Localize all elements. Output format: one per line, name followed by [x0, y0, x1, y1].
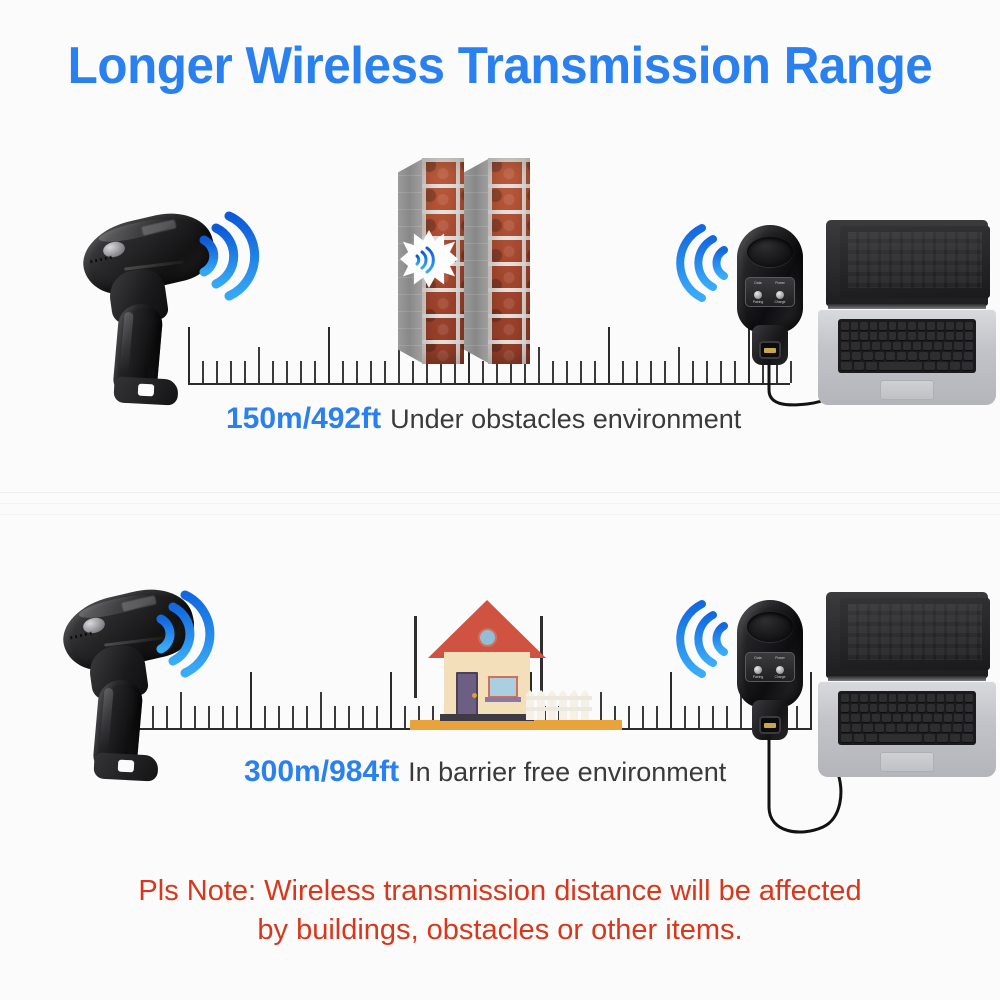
receiver-led-label-charge: Charge — [769, 676, 791, 680]
ruler-tick — [594, 361, 596, 383]
ruler-tick — [328, 327, 330, 383]
usb-receiver-row1: Data Power Pairing Charge — [731, 225, 809, 375]
usb-receiver-row2: Data Power Pairing Charge — [731, 600, 809, 750]
signal-blocked-burst-icon — [400, 230, 458, 288]
panel-obstacle-environment: Data Power Pairing Charge — [0, 130, 1000, 490]
infographic-page: Longer Wireless Transmission Range — [0, 0, 1000, 1000]
ruler-tick — [292, 706, 294, 728]
ruler-tick — [670, 672, 672, 728]
page-title: Longer Wireless Transmission Range — [25, 36, 975, 96]
ruler-tick — [482, 361, 484, 383]
ruler-tick — [362, 706, 364, 728]
ruler-tick — [656, 706, 658, 728]
ruler-tick — [236, 706, 238, 728]
ruler-tick — [552, 361, 554, 383]
scanner-foot-notch — [118, 760, 135, 773]
laptop-trackpad — [880, 752, 934, 772]
ruler-tick — [678, 347, 680, 383]
receiver-usb-port — [759, 716, 781, 734]
ruler-tick — [622, 361, 624, 383]
brick-wall-2-face — [488, 158, 530, 364]
receiver-usb-port — [759, 341, 781, 359]
receiver-led-data — [754, 291, 762, 299]
bottom-note: Pls Note: Wireless transmission distance… — [0, 872, 1000, 949]
laptop-lid — [826, 220, 988, 306]
house-window-sill — [485, 697, 521, 702]
scanner-foot-notch — [138, 384, 155, 397]
panel-divider-3 — [0, 514, 1000, 515]
ruler-tick — [636, 361, 638, 383]
receiver-indicator-panel: Data Power Pairing Charge — [745, 652, 795, 682]
ruler-tick — [390, 672, 392, 728]
ruler-tick — [566, 361, 568, 383]
panel-barrier-free-environment: Data Power Pairing Charge — [0, 520, 1000, 860]
ruler-tick — [538, 347, 540, 383]
caption-row1: 150m/492ftUnder obstacles environment — [226, 402, 741, 436]
ruler-tick — [222, 706, 224, 728]
ruler-tick — [404, 706, 406, 728]
house-round-window — [478, 628, 497, 647]
receiver-led-label-pairing: Pairing — [747, 676, 769, 680]
receiver-indicator-panel: Data Power Pairing Charge — [745, 277, 795, 307]
panel-divider-2 — [0, 503, 1000, 504]
laptop-screen-reflection — [848, 604, 982, 660]
house-fence — [526, 686, 592, 720]
environment-label-row2: In barrier free environment — [408, 757, 726, 787]
brick-wall-2 — [464, 158, 530, 364]
ruler-tick — [692, 361, 694, 383]
ruler-tick — [720, 361, 722, 383]
ruler-tick — [810, 672, 812, 728]
ruler-tick — [426, 361, 428, 383]
ruler-tick — [726, 706, 728, 728]
ruler-baseline — [188, 383, 790, 385]
receiver-top-recess — [747, 612, 793, 642]
distance-label-row1: 150m/492ft — [226, 402, 381, 435]
ruler-tick — [580, 361, 582, 383]
ruler-tick — [356, 361, 358, 383]
ruler-tick — [496, 361, 498, 383]
house-ground — [410, 720, 622, 730]
receiver-led-power — [776, 291, 784, 299]
environment-label-row1: Under obstacles environment — [390, 404, 741, 434]
ruler-tick — [230, 361, 232, 383]
ruler-tick — [384, 361, 386, 383]
house-illustration — [428, 600, 600, 730]
laptop-screen-reflection — [848, 232, 982, 288]
ruler-tick — [348, 706, 350, 728]
ruler-tick — [628, 706, 630, 728]
ruler-tick — [208, 706, 210, 728]
ruler-tick — [370, 361, 372, 383]
ruler-tick — [440, 361, 442, 383]
laptop-trackpad — [880, 380, 934, 400]
receiver-led-label-power: Power — [769, 657, 791, 661]
laptop-keyboard — [838, 691, 976, 745]
receiver-led-label-power: Power — [769, 282, 791, 286]
ruler-tick — [278, 706, 280, 728]
ruler-tick — [608, 327, 610, 383]
ruler-tick — [286, 361, 288, 383]
ruler-tick-behind-house-left — [414, 616, 417, 698]
panel-divider-1 — [0, 492, 1000, 493]
wifi-signal-icon-scanner-row2 — [155, 588, 215, 680]
ruler-tick — [244, 361, 246, 383]
ruler-tick — [272, 361, 274, 383]
laptop-row2 — [818, 592, 996, 777]
distance-label-row2: 300m/984ft — [244, 755, 399, 788]
ruler-tick — [334, 706, 336, 728]
wifi-signal-icon-receiver-row1 — [684, 222, 736, 304]
ruler-tick — [264, 706, 266, 728]
ruler-tick — [706, 361, 708, 383]
laptop-keyboard — [838, 319, 976, 373]
ruler-tick — [300, 361, 302, 383]
ruler-tick — [250, 672, 252, 728]
ruler-tick — [412, 361, 414, 383]
house-foundation — [440, 714, 534, 721]
receiver-led-data — [754, 666, 762, 674]
ruler-tick — [376, 706, 378, 728]
ruler-tick — [698, 706, 700, 728]
bottom-note-line1: Pls Note: Wireless transmission distance… — [0, 872, 1000, 911]
laptop-row1 — [818, 220, 996, 405]
receiver-led-label-charge: Charge — [769, 301, 791, 305]
receiver-top-recess — [747, 237, 793, 267]
brick-wall-2-side — [464, 158, 490, 364]
ruler-tick — [510, 361, 512, 383]
house-window — [488, 676, 518, 698]
ruler-tick — [712, 706, 714, 728]
ruler-tick — [650, 361, 652, 383]
laptop-lid — [826, 592, 988, 678]
ruler-tick — [320, 692, 322, 728]
receiver-led-power — [776, 666, 784, 674]
ruler-tick — [684, 706, 686, 728]
ruler-tick — [258, 347, 260, 383]
receiver-led-label-data: Data — [747, 657, 769, 661]
burst-wifi-arcs — [413, 246, 443, 274]
wifi-signal-icon-receiver-row2 — [684, 598, 736, 680]
ruler-tick — [314, 361, 316, 383]
receiver-led-label-data: Data — [747, 282, 769, 286]
ruler-tick — [642, 706, 644, 728]
laptop-screen — [840, 598, 990, 670]
caption-row2: 300m/984ftIn barrier free environment — [244, 755, 726, 789]
laptop-screen — [840, 226, 990, 298]
wifi-signal-icon-scanner-row1 — [198, 210, 260, 302]
ruler-tick — [306, 706, 308, 728]
house-door-knob — [472, 693, 477, 698]
ruler-tick — [664, 361, 666, 383]
receiver-led-label-pairing: Pairing — [747, 301, 769, 305]
bottom-note-line2: by buildings, obstacles or other items. — [0, 911, 1000, 950]
ruler-tick — [454, 361, 456, 383]
ruler-tick — [342, 361, 344, 383]
ruler-tick — [524, 361, 526, 383]
